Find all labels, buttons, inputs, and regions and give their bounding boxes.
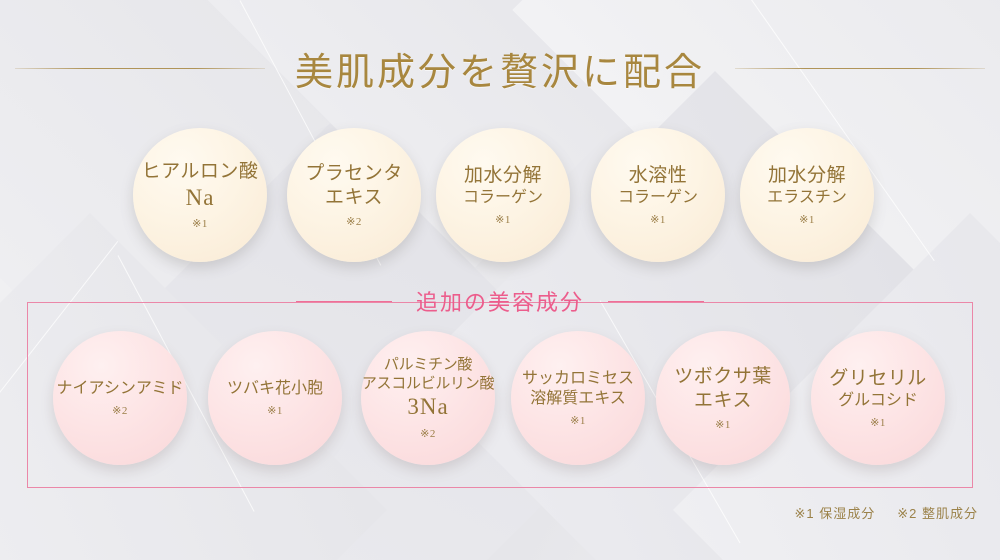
ingredient-name-line: エラスチン (767, 188, 847, 208)
ingredient-name-line: ツバキ花小胞 (227, 379, 323, 399)
ingredient-name-line: グリセリル (829, 367, 927, 391)
ingredient-footnote-marker: ※1 (799, 213, 815, 226)
ingredient-name-line: プラセンタ (305, 162, 403, 186)
ingredient-footnote-marker: ※2 (112, 404, 128, 417)
ingredient-name-line: エキス (325, 186, 383, 210)
ingredient-footnote-marker: ※1 (715, 418, 731, 431)
ingredient-footnote-marker: ※2 (346, 215, 362, 228)
ingredient-name-line: エキス (694, 389, 752, 413)
ingredient-name-line: グルコシド (838, 391, 918, 411)
ingredient-name-line: サッカロミセス (522, 369, 634, 389)
ingredient-name-line: 加水分解 (464, 164, 542, 188)
ingredient-name-latin: Na (186, 184, 215, 213)
ingredient-name-line: ヒアルロン酸 (142, 160, 259, 184)
page-title: 美肌成分を贅沢に配合 (295, 41, 705, 96)
footnote-legend-item-1: ※1 保湿成分 (795, 503, 876, 522)
section-title: 追加の美容成分 (414, 285, 586, 317)
ingredient-name-line: 加水分解 (768, 164, 846, 188)
section-title-row: 追加の美容成分 (0, 286, 1000, 316)
footnote-legend-item-2: ※2 整肌成分 (897, 503, 978, 522)
ingredient-circle-hyaluronic-acid-na[interactable]: ヒアルロン酸 Na ※1 (133, 128, 267, 262)
ingredient-name-line: 溶解質エキス (530, 389, 626, 409)
ingredient-circle-niacinamide[interactable]: ナイアシンアミド ※2 (53, 331, 187, 465)
section-rule-right (608, 301, 704, 302)
title-rule-left (15, 68, 265, 69)
ingredient-circle-hydrolyzed-collagen[interactable]: 加水分解 コラーゲン ※1 (436, 128, 570, 262)
ingredient-name-line: コラーゲン (618, 188, 698, 208)
ingredient-name-line: パルミチン酸 (384, 356, 472, 375)
ingredient-name-line: ツボクサ葉 (674, 365, 772, 389)
ingredient-name-line: コラーゲン (463, 188, 543, 208)
ingredient-circle-water-soluble-collagen[interactable]: 水溶性 コラーゲン ※1 (591, 128, 725, 262)
title-rule-right (735, 68, 985, 69)
ingredient-circle-camellia-flower-cell[interactable]: ツバキ花小胞 ※1 (208, 331, 342, 465)
ingredient-name-line: ナイアシンアミド (56, 379, 183, 399)
ingredient-name-line: 水溶性 (629, 164, 688, 188)
section-rule-left (296, 301, 392, 302)
ingredient-footnote-marker: ※1 (870, 416, 886, 429)
ingredient-circle-placenta-extract[interactable]: プラセンタ エキス ※2 (287, 128, 421, 262)
ingredient-circle-ascorbyl-palmitate-phosphate-3na[interactable]: パルミチン酸 アスコルビルリン酸 3Na ※2 (361, 331, 495, 465)
ingredient-footnote-marker: ※2 (420, 427, 436, 440)
title-row: 美肌成分を贅沢に配合 (0, 40, 1000, 96)
ingredient-circle-hydrolyzed-elastin[interactable]: 加水分解 エラスチン ※1 (740, 128, 874, 262)
ingredient-footnote-marker: ※1 (570, 414, 586, 427)
ingredient-circle-saccharomyces-lysate-extract[interactable]: サッカロミセス 溶解質エキス ※1 (511, 331, 645, 465)
ingredient-circle-centella-asiatica-leaf-extract[interactable]: ツボクサ葉 エキス ※1 (656, 331, 790, 465)
ingredient-footnote-marker: ※1 (267, 404, 283, 417)
ingredient-footnote-marker: ※1 (192, 217, 208, 230)
ingredient-footnote-marker: ※1 (495, 213, 511, 226)
ingredient-name-latin: 3Na (407, 393, 448, 422)
ingredient-footnote-marker: ※1 (650, 213, 666, 226)
ingredient-circle-glyceryl-glucoside[interactable]: グリセリル グルコシド ※1 (811, 331, 945, 465)
poster-background: 美肌成分を贅沢に配合 ヒアルロン酸 Na ※1 プラセンタ エキス ※2 加水分… (0, 0, 1000, 560)
footnote-legend: ※1 保湿成分 ※2 整肌成分 (795, 503, 979, 522)
ingredient-name-line: アスコルビルリン酸 (362, 375, 494, 394)
